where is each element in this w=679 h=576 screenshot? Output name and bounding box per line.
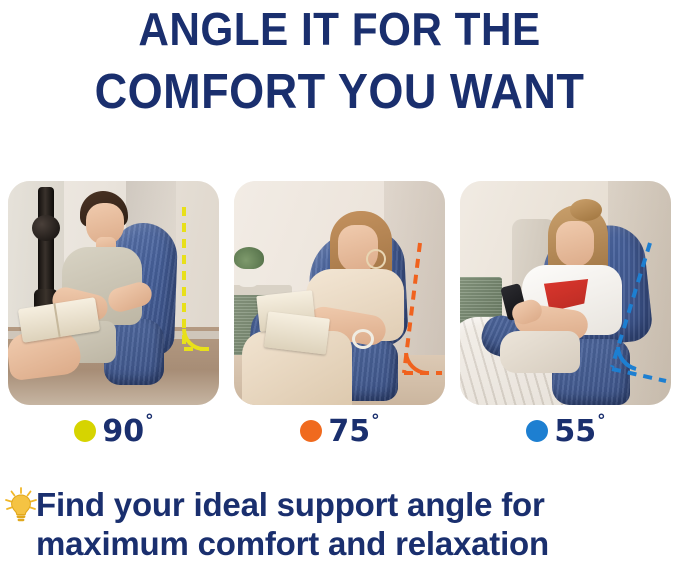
book-open-page xyxy=(264,311,330,354)
angle-label-75: 75° xyxy=(234,412,445,450)
caption-block: Find your ideal support angle for maximu… xyxy=(0,487,679,573)
panel-row xyxy=(8,181,671,405)
angle-legend: 90° 75° 55° xyxy=(8,412,671,450)
angle-number: 90 xyxy=(102,414,144,449)
angle-value-55: 55° xyxy=(554,417,604,447)
angle-label-90: 90° xyxy=(8,412,219,450)
headline-line-1: ANGLE IT FOR THE xyxy=(27,6,652,52)
angle-value-90: 90° xyxy=(102,417,152,447)
angle-dot-orange xyxy=(300,420,322,442)
panel-75 xyxy=(234,181,445,405)
degree-symbol: ° xyxy=(597,411,606,431)
model-face xyxy=(556,221,594,267)
caption-line-2: maximum comfort and relaxation xyxy=(36,526,676,563)
angle-label-55: 55° xyxy=(460,412,671,450)
caption-line-1: Find your ideal support angle for xyxy=(36,487,676,524)
panel-55 xyxy=(460,181,671,405)
lightbulb-icon xyxy=(4,487,38,523)
page-title: ANGLE IT FOR THE COMFORT YOU WANT xyxy=(0,4,679,117)
model-shorts xyxy=(500,331,580,373)
product-feature-graphic: ANGLE IT FOR THE COMFORT YOU WANT xyxy=(0,0,679,576)
angle-dot-blue xyxy=(526,420,548,442)
model-bun xyxy=(570,199,602,221)
plant-leaves xyxy=(234,247,264,269)
caption-text: Find your ideal support angle for maximu… xyxy=(36,487,676,563)
lamp-finial xyxy=(32,215,60,241)
model-bracelet xyxy=(352,329,374,349)
degree-symbol: ° xyxy=(145,411,154,431)
angle-dot-yellow xyxy=(74,420,96,442)
panel-90 xyxy=(8,181,219,405)
angle-number: 55 xyxy=(554,414,596,449)
angle-number: 75 xyxy=(328,414,370,449)
angle-value-75: 75° xyxy=(328,417,378,447)
model-earring xyxy=(366,249,386,269)
degree-symbol: ° xyxy=(371,411,380,431)
headline-line-2: COMFORT YOU WANT xyxy=(27,68,652,117)
